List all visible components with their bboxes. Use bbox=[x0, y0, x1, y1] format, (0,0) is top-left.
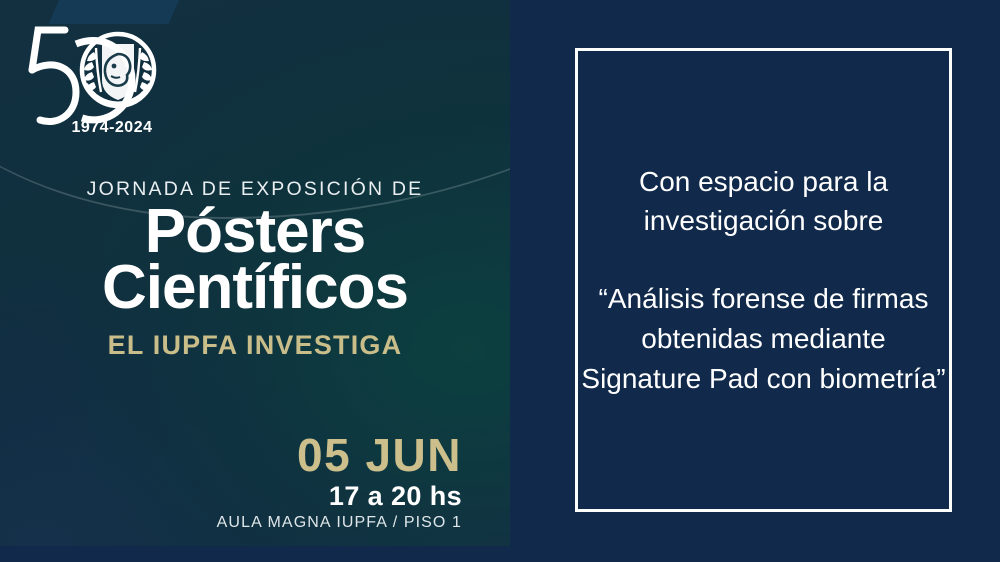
anniversary-logo: 1974-2024 bbox=[18, 8, 198, 140]
right-text-panel: Con espacio para la investigación sobre … bbox=[510, 0, 1000, 562]
poster-venue: AULA MAGNA IUPFA / PISO 1 bbox=[0, 514, 462, 532]
anniversary-years: 1974-2024 bbox=[71, 119, 152, 136]
fifty-numeral-5 bbox=[32, 30, 76, 122]
research-quote-text: “Análisis forense de firmas obtenidas me… bbox=[578, 279, 950, 398]
presentation-slide: 1974-2024 JORNADA DE EXPOSICIÓN DE Póste… bbox=[0, 0, 1000, 562]
lead-text: Con espacio para la investigación sobre bbox=[584, 162, 944, 242]
poster-date: 05 JUN bbox=[0, 428, 462, 482]
text-frame-content: Con espacio para la investigación sobre … bbox=[578, 51, 949, 509]
poster-subtitle: EL IUPFA INVESTIGA bbox=[0, 330, 510, 361]
text-frame-border: Con espacio para la investigación sobre … bbox=[575, 48, 952, 512]
poster-time: 17 a 20 hs bbox=[0, 481, 462, 512]
anniversary-logo-svg: 1974-2024 bbox=[18, 8, 198, 140]
event-poster-image: 1974-2024 JORNADA DE EXPOSICIÓN DE Póste… bbox=[0, 0, 510, 546]
poster-title-line-2: Científicos bbox=[0, 256, 510, 319]
